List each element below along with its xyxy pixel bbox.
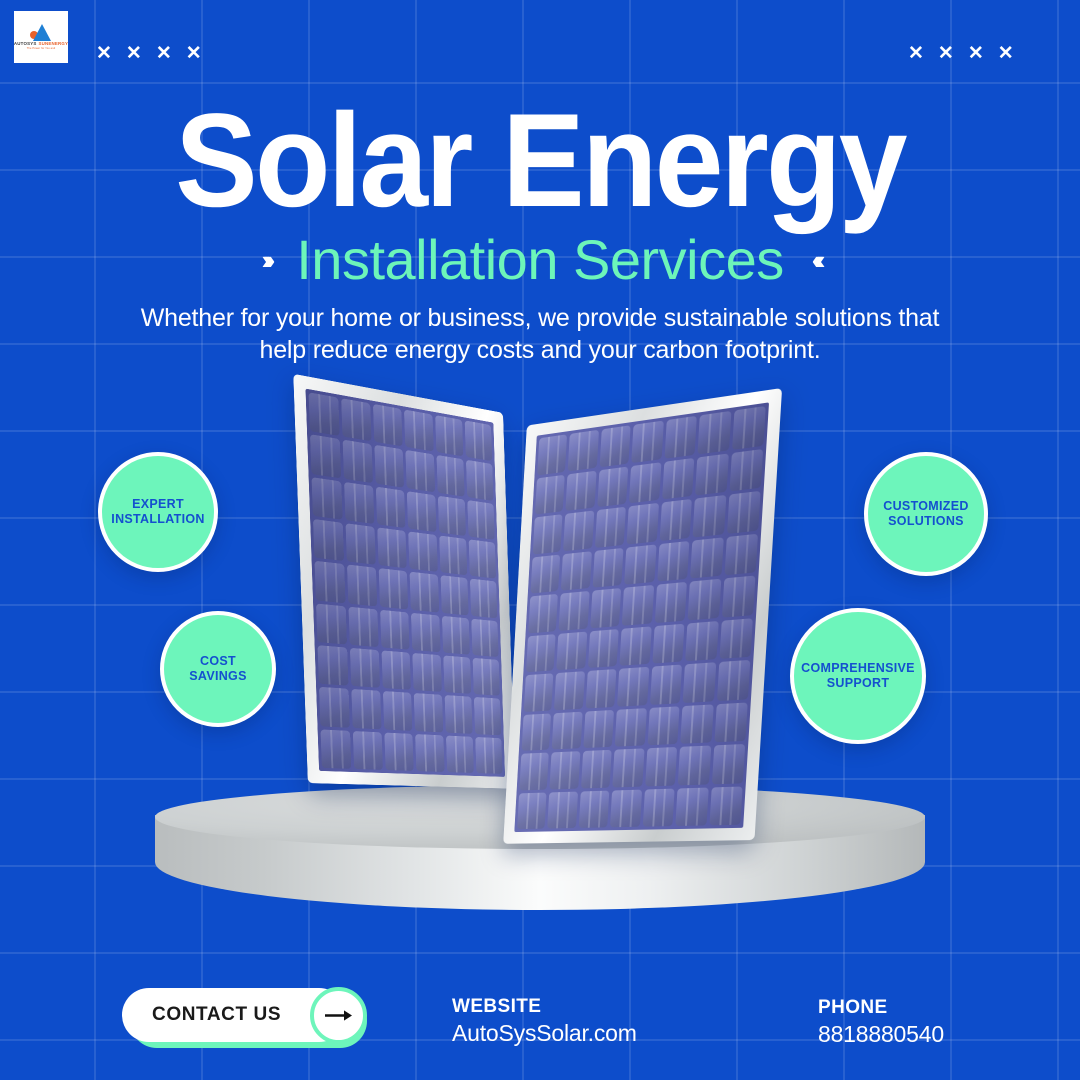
solar-cell bbox=[312, 477, 343, 520]
solar-cell bbox=[375, 445, 405, 487]
solar-cell bbox=[552, 711, 583, 749]
solar-cell bbox=[719, 618, 753, 659]
solar-cell bbox=[341, 398, 372, 441]
panel-cell-grid-left bbox=[305, 389, 505, 777]
solar-cell bbox=[729, 448, 763, 491]
solar-cell bbox=[678, 745, 711, 784]
solar-cell bbox=[468, 539, 496, 579]
solar-panel-right bbox=[503, 388, 782, 844]
solar-cell bbox=[581, 750, 612, 788]
solar-cell bbox=[714, 702, 748, 742]
solar-cell bbox=[472, 658, 499, 696]
solar-cell bbox=[563, 510, 594, 550]
solar-cell bbox=[717, 660, 751, 701]
solar-cell bbox=[557, 631, 588, 670]
solar-cell bbox=[380, 609, 410, 649]
badge-cost-savings-label: COSTSAVINGS bbox=[189, 654, 246, 684]
solar-cell bbox=[579, 790, 610, 828]
solar-cell bbox=[524, 673, 554, 711]
solar-cell bbox=[407, 491, 436, 532]
solar-cell bbox=[599, 425, 630, 467]
badge-comprehensive-support-label: COMPREHENSIVESUPPORT bbox=[801, 661, 915, 691]
solar-cell bbox=[622, 585, 654, 625]
solar-cell bbox=[690, 537, 723, 579]
solar-cell bbox=[698, 411, 731, 454]
solar-cell bbox=[346, 523, 376, 565]
solar-cell bbox=[559, 591, 590, 630]
solar-cell bbox=[318, 645, 349, 686]
solar-cell bbox=[475, 737, 502, 774]
solar-cell bbox=[583, 709, 614, 748]
solar-cell bbox=[466, 460, 494, 501]
cta-arrow-circle[interactable] bbox=[310, 987, 367, 1044]
solar-cell bbox=[535, 474, 565, 514]
solar-cell bbox=[352, 689, 382, 729]
poster-canvas: AUTOSYS SUNENERGY The Power for You and … bbox=[0, 0, 1080, 1080]
solar-cell bbox=[642, 788, 674, 827]
solar-cell bbox=[316, 603, 347, 644]
solar-cell bbox=[709, 786, 743, 825]
solar-cell bbox=[310, 435, 341, 479]
panel-cell-grid-right bbox=[514, 402, 769, 832]
solar-cell bbox=[385, 732, 414, 771]
solar-cell bbox=[650, 665, 682, 705]
solar-cell bbox=[376, 486, 406, 528]
solar-cell bbox=[592, 547, 623, 587]
solar-cell bbox=[519, 753, 549, 790]
contact-website: WEBSITE AutoSysSolar.com bbox=[452, 996, 637, 1048]
badge-expert-installation-label: EXPERTINSTALLATION bbox=[111, 497, 204, 527]
solar-cell bbox=[597, 466, 628, 507]
solar-cell bbox=[727, 491, 761, 534]
solar-cell bbox=[537, 434, 567, 475]
solar-cell bbox=[349, 606, 379, 647]
solar-cell bbox=[695, 453, 728, 496]
solar-cell bbox=[438, 495, 466, 536]
solar-cell bbox=[444, 695, 472, 733]
solar-cell bbox=[722, 575, 756, 617]
solar-cell bbox=[554, 671, 585, 710]
solar-cell bbox=[436, 455, 464, 496]
badge-customized-solutions[interactable]: CUSTOMIZEDSOLUTIONS bbox=[864, 452, 988, 576]
solar-cell bbox=[629, 462, 661, 504]
solar-cell bbox=[530, 554, 560, 593]
solar-cell bbox=[526, 634, 556, 673]
solar-cell bbox=[309, 392, 340, 436]
solar-cell bbox=[586, 669, 617, 708]
phone-label: PHONE bbox=[818, 997, 944, 1020]
solar-cell bbox=[522, 713, 552, 751]
solar-cell bbox=[409, 531, 438, 572]
solar-cell bbox=[414, 693, 443, 732]
solar-cell bbox=[688, 579, 721, 620]
solar-cell bbox=[712, 744, 746, 784]
solar-cell bbox=[446, 735, 474, 773]
badge-comprehensive-support[interactable]: COMPREHENSIVESUPPORT bbox=[790, 608, 926, 744]
solar-cell bbox=[404, 410, 433, 452]
solar-cell bbox=[566, 470, 597, 511]
solar-cell bbox=[350, 648, 380, 688]
solar-cell bbox=[416, 734, 445, 772]
solar-cell bbox=[595, 507, 626, 548]
solar-cell bbox=[383, 691, 413, 730]
solar-cell bbox=[443, 655, 471, 694]
solar-cell bbox=[550, 751, 580, 789]
website-label: WEBSITE bbox=[452, 996, 637, 1019]
solar-cell bbox=[645, 747, 677, 786]
solar-cell bbox=[379, 568, 409, 609]
solar-cell bbox=[632, 421, 664, 463]
contact-us-button[interactable]: CONTACT US bbox=[122, 988, 367, 1046]
website-value[interactable]: AutoSysSolar.com bbox=[452, 1019, 637, 1048]
solar-cell bbox=[344, 482, 374, 524]
solar-cell bbox=[378, 527, 408, 568]
solar-cell bbox=[620, 626, 652, 666]
solar-cell bbox=[680, 704, 713, 744]
solar-cell bbox=[615, 708, 647, 747]
solar-cell bbox=[613, 748, 645, 787]
solar-cell bbox=[373, 404, 403, 447]
solar-cell bbox=[732, 406, 766, 449]
solar-cell bbox=[382, 650, 412, 690]
solar-cell bbox=[617, 667, 649, 706]
solar-cell bbox=[413, 653, 442, 692]
solar-cell bbox=[588, 629, 619, 668]
badge-cost-savings[interactable]: COSTSAVINGS bbox=[160, 611, 276, 727]
phone-value[interactable]: 8818880540 bbox=[818, 1020, 944, 1049]
badge-customized-solutions-label: CUSTOMIZEDSOLUTIONS bbox=[883, 499, 968, 529]
solar-cell bbox=[624, 544, 656, 585]
solar-cell bbox=[439, 535, 467, 575]
solar-cell bbox=[533, 514, 563, 554]
solar-cell bbox=[343, 440, 373, 483]
solar-cell bbox=[548, 791, 578, 828]
solar-cell bbox=[675, 787, 708, 826]
solar-cell bbox=[693, 495, 726, 537]
solar-cell bbox=[610, 789, 642, 827]
solar-cell bbox=[442, 615, 470, 654]
solar-cell bbox=[664, 416, 697, 459]
solar-cell bbox=[467, 500, 495, 540]
solar-cell bbox=[685, 620, 718, 661]
solar-cell bbox=[657, 540, 690, 581]
solar-cell bbox=[347, 565, 377, 606]
badge-expert-installation[interactable]: EXPERTINSTALLATION bbox=[98, 452, 218, 572]
arrow-right-icon bbox=[325, 1009, 352, 1022]
solar-cell bbox=[406, 450, 435, 492]
solar-cell bbox=[470, 579, 498, 618]
solar-cell bbox=[465, 420, 493, 461]
solar-cell bbox=[435, 415, 463, 457]
solar-cell bbox=[353, 731, 383, 770]
solar-cell bbox=[568, 430, 599, 471]
solar-cell bbox=[517, 792, 547, 829]
solar-cell bbox=[320, 729, 351, 769]
contact-phone: PHONE 8818880540 bbox=[818, 997, 944, 1049]
solar-cell bbox=[561, 551, 592, 591]
solar-cell bbox=[319, 687, 350, 727]
contact-us-label: CONTACT US bbox=[152, 1004, 281, 1026]
solar-cell bbox=[528, 594, 558, 633]
solar-cell bbox=[652, 623, 684, 663]
solar-cell bbox=[662, 457, 695, 499]
solar-cell bbox=[683, 662, 716, 702]
solar-cell bbox=[313, 519, 344, 561]
solar-cell bbox=[474, 697, 501, 735]
solar-cell bbox=[471, 618, 498, 657]
solar-cell bbox=[724, 533, 758, 575]
solar-cell bbox=[647, 706, 679, 745]
solar-cell bbox=[659, 499, 692, 541]
solar-cell bbox=[315, 561, 346, 603]
solar-cell bbox=[590, 588, 621, 628]
solar-cell bbox=[627, 503, 659, 544]
solar-cell bbox=[410, 572, 439, 612]
solar-cell bbox=[411, 612, 440, 652]
solar-cell bbox=[440, 575, 468, 615]
solar-cell bbox=[655, 582, 688, 623]
solar-panel-left bbox=[293, 374, 515, 789]
